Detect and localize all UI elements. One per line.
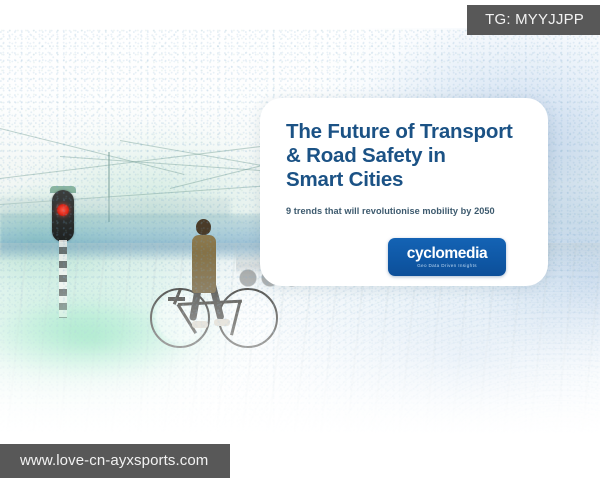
- title-card: The Future of Transport & Road Safety in…: [260, 98, 548, 286]
- page-subtitle: 9 trends that will revolutionise mobilit…: [286, 206, 522, 216]
- rider-shoe: [192, 321, 208, 328]
- rider-shoe: [214, 319, 230, 326]
- traffic-signal-red-lamp: [57, 204, 69, 216]
- screenshot-root: The Future of Transport & Road Safety in…: [0, 0, 600, 480]
- rider-torso-coat: [192, 235, 216, 293]
- page-title: The Future of Transport & Road Safety in…: [286, 120, 522, 193]
- logo-wordmark: cyclomedia: [407, 246, 487, 262]
- logo-tagline: Geo Data Driven Insights: [417, 264, 477, 269]
- catenary-wire: [0, 128, 184, 175]
- cyclist-with-bicycle: [150, 273, 278, 348]
- bicycle-saddle: [168, 297, 185, 301]
- watermark-url: www.love-cn-ayxsports.com: [0, 444, 230, 478]
- cyclomedia-logo: cyclomedia Geo Data Driven Insights: [388, 238, 506, 276]
- traffic-signal-head: [52, 190, 74, 242]
- tag-badge: TG: MYYJJPP: [467, 5, 600, 35]
- rider-head: [196, 219, 211, 235]
- bicycle-front-wheel: [218, 288, 278, 348]
